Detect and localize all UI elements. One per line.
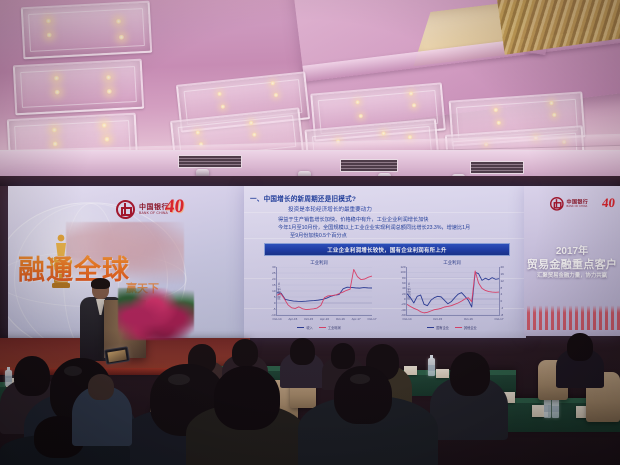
chart-ytick: 30	[272, 265, 275, 269]
right-screen-title: 贸易金融重点客户	[524, 256, 620, 272]
presentation-slide-screen: 一、中国增长的新周期还是旧模式? 投资是本轮经济增长的最重要动力 得益于生产销售…	[244, 186, 526, 338]
chart-industrial-profit-right: 工业利润 同比增长 / % -60-40-20020406080100120-8…	[388, 260, 516, 330]
chart-ytick: 120	[400, 265, 405, 269]
chart-ytick: 80	[402, 276, 405, 280]
attendee-icon	[72, 386, 132, 446]
chart-xtick: Apr-17	[352, 317, 361, 321]
chart-xtick: Oct-14	[402, 317, 411, 321]
chart-svg	[277, 267, 372, 315]
chart-xtick: Oct-17	[494, 317, 503, 321]
chart-industrial-profit-left: 工业利润 同比增长 / % -10-5051015202530Oct-14Apr…	[258, 260, 380, 330]
chart-ytick: -40	[401, 308, 405, 312]
slide-lead: 投资是本轮经济增长的最重要动力	[288, 205, 372, 213]
chart-xtick: Oct-15	[433, 317, 442, 321]
chart-xtick: Oct-16	[464, 317, 473, 321]
chart-ytick-secondary: 16	[501, 272, 504, 276]
ceiling-rail	[0, 150, 620, 179]
chart-xtick: Oct-16	[336, 317, 345, 321]
chart-plot-area: 同比增长 / % -60-40-20020406080100120-8-4048…	[406, 267, 500, 316]
chart-title: 工业利润	[388, 260, 516, 266]
right-projection-screen: 中国银行 BANK OF CHINA 40 2017年 贸易金融重点客户 汇聚贸…	[524, 186, 620, 336]
chart-xtick: Apr-16	[320, 317, 329, 321]
chart-ytick: 20	[402, 292, 405, 296]
attendee-icon	[280, 352, 324, 388]
chart-ytick-secondary: 0	[501, 299, 503, 303]
chart-xtick: Oct-15	[304, 317, 313, 321]
chart-plot-area: 同比增长 / % -10-5051015202530Oct-14Apr-15Oc…	[276, 267, 372, 316]
bank-of-china-logo: 中国银行 BANK OF CHINA	[116, 200, 169, 219]
chart-title: 工业利润	[258, 260, 380, 266]
water-bottle-icon	[552, 398, 559, 418]
slide-section-banner: 工业企业利润增长较快，国有企业利润有所上升	[264, 243, 510, 256]
air-vent-icon	[470, 161, 524, 174]
chart-svg	[407, 267, 499, 315]
chart-xtick: Oct-17	[367, 317, 376, 321]
chart-ytick-secondary: 4	[501, 292, 503, 296]
chart-ytick: 10	[272, 289, 275, 293]
conference-hall-photo: 中国银行 BANK OF CHINA 40 融通全球 赢天下 一、中国增长的新周…	[0, 0, 620, 465]
slide-bullet: 至9月份加快0.5个百分点	[290, 233, 347, 240]
chart-ytick: -5	[273, 307, 276, 311]
chart-ytick: -20	[401, 302, 405, 306]
right-screen-year: 2017年	[524, 242, 620, 257]
right-screen-subtitle: 汇聚贸易金融力量，协力共赢	[524, 271, 620, 279]
slide-banner-text: 工业企业利润增长较快，国有企业利润有所上升	[327, 246, 447, 254]
attendee-icon	[556, 348, 604, 388]
anniversary-logo: 40	[164, 196, 185, 218]
ceiling	[0, 0, 620, 160]
chart-series-其他企业	[407, 271, 499, 313]
boc-name-en: BANK OF CHINA	[567, 205, 589, 207]
chart-series-工业利润	[277, 269, 372, 309]
ceiling-coffer-panel	[13, 59, 144, 116]
slide-bullet: 得益于生产销售增长加快、价格稳中有升，工业企业利润增长加快	[278, 217, 428, 224]
air-vent-icon	[340, 159, 398, 172]
chart-ytick: 60	[402, 281, 405, 285]
chart-ytick-secondary: 12	[501, 279, 504, 283]
chart-ytick: 0	[404, 297, 406, 301]
chart-ytick: 20	[272, 277, 275, 281]
boc-coin-icon	[116, 200, 135, 219]
chart-xtick: Oct-14	[272, 317, 281, 321]
slide-bullet: 今年1月至10月份，全国规模以上工业企业实现利润总额同比增长23.3%，增速比1…	[278, 225, 470, 232]
air-vent-icon	[178, 155, 242, 168]
slide-heading: 一、中国增长的新周期还是旧模式?	[250, 193, 356, 203]
water-bottle-icon	[428, 358, 435, 376]
ceiling-coffer-panel	[21, 1, 153, 60]
chart-ytick-secondary: -4	[501, 306, 504, 310]
audience-area	[0, 330, 620, 465]
attendee-icon	[298, 396, 438, 465]
chart-ytick: 40	[402, 286, 405, 290]
city-skyline-icon	[524, 302, 620, 330]
chart-ytick: 0	[274, 301, 276, 305]
chart-xtick: Apr-15	[288, 317, 297, 321]
anniversary-logo: 40	[601, 195, 616, 211]
bank-of-china-logo: 中国银行 BANK OF CHINA	[550, 197, 588, 211]
boc-coin-icon	[550, 197, 564, 211]
chart-ytick: 100	[400, 270, 405, 274]
attendee-icon	[186, 404, 306, 465]
chart-ytick-secondary: 8	[501, 286, 503, 290]
chart-ytick: 15	[272, 283, 275, 287]
chart-ytick: 25	[272, 271, 275, 275]
attendee-icon	[430, 376, 508, 440]
chart-ytick: 5	[274, 295, 276, 299]
chart-series-收入	[277, 287, 372, 301]
name-card-icon	[436, 369, 449, 378]
chart-ytick-secondary: 20	[501, 265, 504, 269]
